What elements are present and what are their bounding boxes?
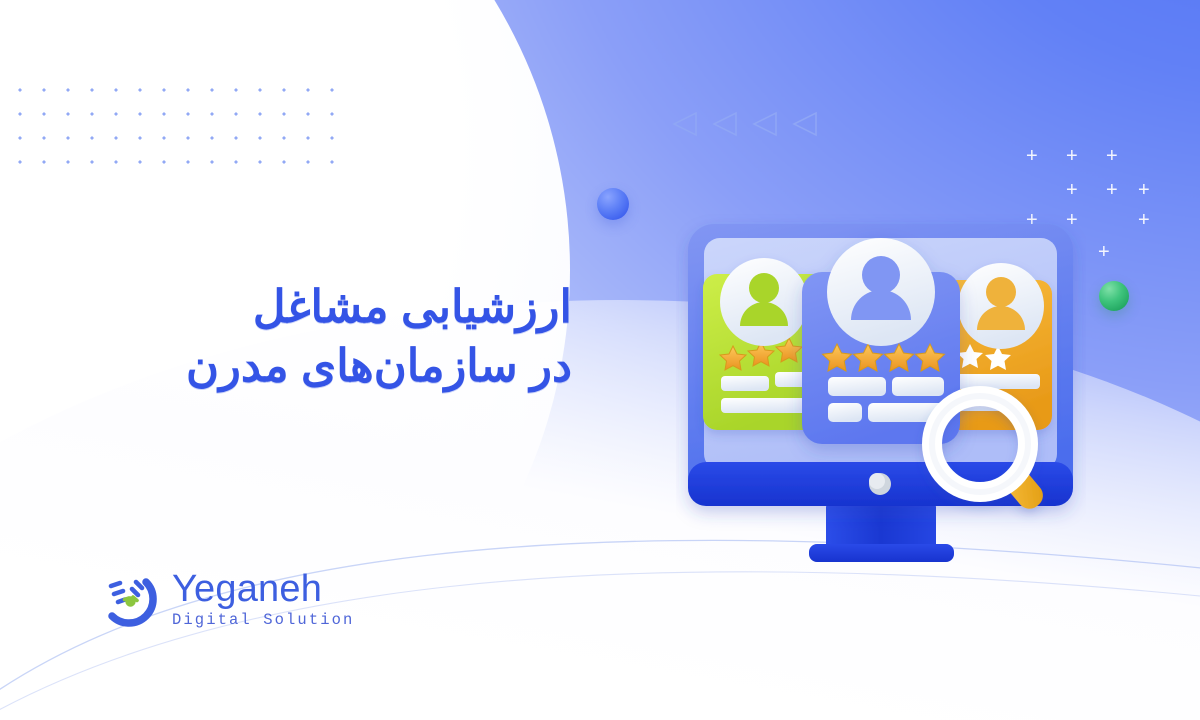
dot-grid-pattern-icon: [8, 78, 348, 170]
logo-name: Yeganeh: [172, 569, 354, 609]
plus-icon: +: [1138, 180, 1150, 200]
triangle-arrows-decoration: [672, 110, 818, 138]
job-evaluation-3d-illustration: [676, 214, 1086, 584]
plus-icon: +: [1026, 146, 1038, 166]
left-triangle-icon: [712, 110, 738, 138]
left-triangle-icon: [792, 110, 818, 138]
plus-icon: +: [1106, 180, 1118, 200]
logo-text-block: Yeganeh Digital Solution: [172, 569, 354, 629]
yeganeh-swirl-icon: [96, 566, 162, 632]
plus-icon: +: [1098, 242, 1110, 262]
logo-tagline: Digital Solution: [172, 611, 354, 629]
avatar-blue: [827, 238, 935, 346]
headline-line-1: ارزشیابی مشاغل: [253, 281, 572, 332]
page-title: ارزشیابی مشاغل در سازمان‌های مدرن: [142, 278, 572, 395]
plus-icon: +: [1106, 146, 1118, 166]
avatar-orange: [958, 263, 1044, 349]
monitor-stand: [809, 502, 954, 562]
green-sphere-decoration: [1099, 281, 1129, 311]
headline-line-2: در سازمان‌های مدرن: [142, 337, 572, 396]
brand-logo[interactable]: Yeganeh Digital Solution: [96, 566, 354, 632]
left-triangle-icon: [752, 110, 778, 138]
banner-canvas: ++++++++++ ارزشیابی مشاغل در سازمان‌های …: [0, 0, 1200, 720]
left-triangle-icon: [672, 110, 698, 138]
avatar-green: [720, 258, 808, 346]
blue-sphere-decoration: [597, 188, 629, 220]
plus-icon: +: [1138, 210, 1150, 230]
plus-icon: +: [1066, 180, 1078, 200]
plus-icon: +: [1066, 146, 1078, 166]
